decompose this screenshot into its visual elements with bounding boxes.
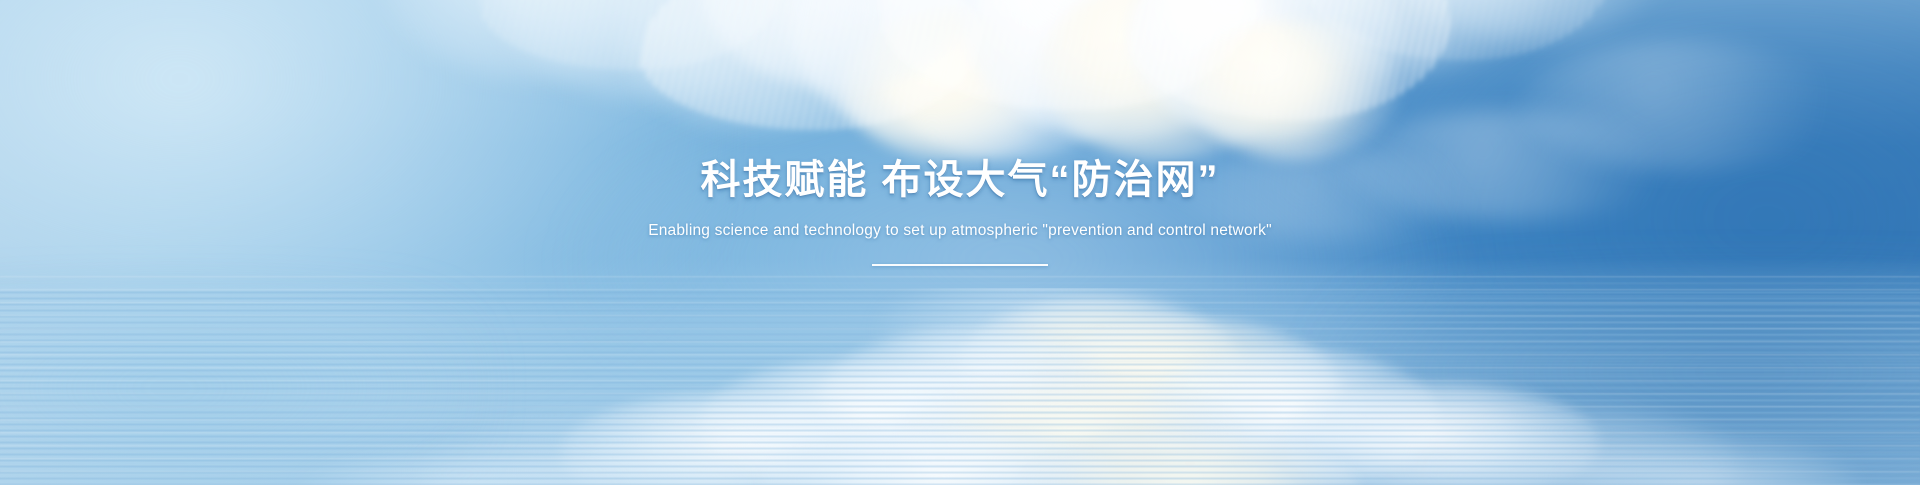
- banner-content: 科技赋能 布设大气“防治网” Enabling science and tech…: [0, 0, 1920, 485]
- hero-banner: 科技赋能 布设大气“防治网” Enabling science and tech…: [0, 0, 1920, 485]
- banner-headline: 科技赋能 布设大气“防治网”: [700, 160, 1219, 200]
- banner-divider: [872, 264, 1048, 266]
- banner-subheadline: Enabling science and technology to set u…: [648, 222, 1272, 240]
